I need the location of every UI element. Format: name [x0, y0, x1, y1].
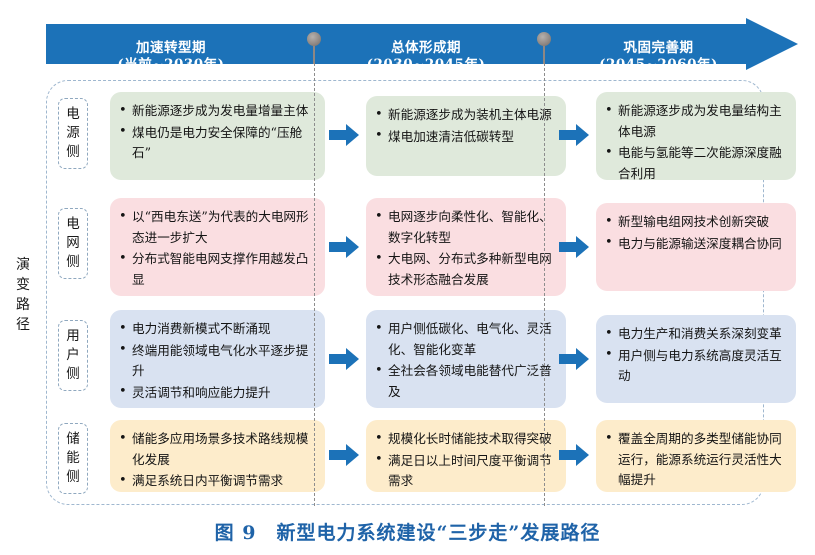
- list-item: 覆盖全周期的多类型储能协同运行，能源系统运行灵活性大幅提升: [604, 429, 786, 491]
- row-label-power-generation: 电 源 侧: [58, 98, 88, 169]
- timeline-pin-stem-1: [313, 44, 315, 64]
- row-power-generation: 电 源 侧 新能源逐步成为发电量增量主体 煤电仍是电力安全保障的“压舱石” 新能…: [46, 92, 806, 180]
- timeline-phase-0: 加速转型期 (当前~2030年): [46, 40, 296, 74]
- phase-name: 总体形成期: [311, 40, 541, 57]
- cell-grid-p2: 电网逐步向柔性化、智能化、数字化转型 大电网、分布式多种新型电网技术形态融合发展: [366, 198, 566, 296]
- phase-name: 巩固完善期: [551, 40, 766, 57]
- phase-range: (2030~2045年): [311, 57, 541, 74]
- row-label-char-2: 侧: [59, 253, 87, 272]
- cell-storage-p2: 规模化长时储能技术取得突破 满足日以上时间尺度平衡调节需求: [366, 420, 566, 492]
- cell-bullet-list: 规模化长时储能技术取得突破 满足日以上时间尺度平衡调节需求: [374, 429, 556, 492]
- list-item: 煤电仍是电力安全保障的“压舱石”: [118, 123, 315, 164]
- figure-caption: 图 9 新型电力系统建设“三步走”发展路径: [0, 518, 815, 545]
- list-item: 电能与氢能等二次能源深度融合利用: [604, 143, 786, 184]
- cell-bullet-list: 以“西电东送”为代表的大电网形态进一步扩大 分布式智能电网支撑作用越发凸显: [118, 207, 315, 290]
- row-label-char-1: 能: [59, 449, 87, 468]
- cell-grid-p3: 新型输电组网技术创新突破 电力与能源输送深度耦合协同: [596, 203, 796, 291]
- list-item: 电网逐步向柔性化、智能化、数字化转型: [374, 207, 556, 248]
- row-label-char-0: 储: [59, 430, 87, 449]
- cell-bullet-list: 覆盖全周期的多类型储能协同运行，能源系统运行灵活性大幅提升: [604, 429, 786, 491]
- list-item: 储能多应用场景多技术路线规模化发展: [118, 429, 315, 470]
- cell-bullet-list: 用户侧低碳化、电气化、灵活化、智能化变革 全社会各领域电能替代广泛普及: [374, 319, 556, 402]
- flow-arrow-user-2to3: [559, 348, 589, 370]
- flow-arrow-user-1to2: [329, 348, 359, 370]
- row-label-char-2: 侧: [59, 365, 87, 384]
- list-item: 规模化长时储能技术取得突破: [374, 429, 556, 450]
- cell-bullet-list: 电力消费新模式不断涌现 终端用能领域电气化水平逐步提升 灵活调节和响应能力提升: [118, 319, 315, 403]
- phase-name: 加速转型期: [46, 40, 296, 57]
- cell-bullet-list: 新能源逐步成为装机主体电源 煤电加速清洁低碳转型: [374, 105, 556, 147]
- row-storage: 储 能 侧 储能多应用场景多技术路线规模化发展 满足系统日内平衡调节需求 规模化…: [46, 420, 806, 498]
- list-item: 用户侧与电力系统高度灵活互动: [604, 346, 786, 387]
- row-label-char-0: 电: [59, 215, 87, 234]
- cell-bullet-list: 电网逐步向柔性化、智能化、数字化转型 大电网、分布式多种新型电网技术形态融合发展: [374, 207, 556, 290]
- flow-arrow-grid-2to3: [559, 236, 589, 258]
- row-label-storage: 储 能 侧: [58, 423, 88, 494]
- column-divider-1: [314, 58, 315, 506]
- cell-power-p2: 新能源逐步成为装机主体电源 煤电加速清洁低碳转型: [366, 96, 566, 176]
- cell-bullet-list: 新能源逐步成为发电量增量主体 煤电仍是电力安全保障的“压舱石”: [118, 101, 315, 164]
- flow-arrow-power-2to3: [559, 124, 589, 146]
- list-item: 煤电加速清洁低碳转型: [374, 127, 556, 148]
- cell-grid-p1: 以“西电东送”为代表的大电网形态进一步扩大 分布式智能电网支撑作用越发凸显: [110, 198, 325, 296]
- row-user: 用 户 侧 电力消费新模式不断涌现 终端用能领域电气化水平逐步提升 灵活调节和响…: [46, 310, 806, 408]
- list-item: 满足系统日内平衡调节需求: [118, 471, 315, 492]
- flow-arrow-grid-1to2: [329, 236, 359, 258]
- list-item: 电力生产和消费关系深刻变革: [604, 324, 786, 345]
- timeline-pin-2: [537, 32, 551, 46]
- list-item: 终端用能领域电气化水平逐步提升: [118, 341, 315, 382]
- list-item: 新能源逐步成为发电量增量主体: [118, 101, 315, 122]
- list-item: 用户侧低碳化、电气化、灵活化、智能化变革: [374, 319, 556, 360]
- figure-canvas: 加速转型期 (当前~2030年) 总体形成期 (2030~2045年) 巩固完善…: [0, 0, 815, 555]
- timeline-pin-stem-2: [543, 44, 545, 64]
- phase-range: (当前~2030年): [46, 57, 296, 74]
- row-label-grid: 电 网 侧: [58, 208, 88, 279]
- list-item: 分布式智能电网支撑作用越发凸显: [118, 249, 315, 290]
- flow-arrow-power-1to2: [329, 124, 359, 146]
- evolution-path-axis-label: 演 变 路 径: [10, 255, 36, 335]
- timeline-phase-2: 巩固完善期 (2045~2060年): [551, 40, 766, 74]
- timeline-phase-1: 总体形成期 (2030~2045年): [311, 40, 541, 74]
- row-label-char-1: 网: [59, 234, 87, 253]
- list-item: 电力与能源输送深度耦合协同: [604, 234, 786, 255]
- row-grid: 电 网 侧 以“西电东送”为代表的大电网形态进一步扩大 分布式智能电网支撑作用越…: [46, 198, 806, 296]
- cell-storage-p3: 覆盖全周期的多类型储能协同运行，能源系统运行灵活性大幅提升: [596, 420, 796, 492]
- flow-arrow-storage-1to2: [329, 444, 359, 466]
- column-divider-2: [544, 58, 545, 506]
- axis-label-char-3: 径: [10, 315, 36, 335]
- axis-label-char-2: 路: [10, 295, 36, 315]
- cell-bullet-list: 新型输电组网技术创新突破 电力与能源输送深度耦合协同: [604, 212, 786, 254]
- row-label-char-1: 户: [59, 346, 87, 365]
- axis-label-char-0: 演: [10, 255, 36, 275]
- cell-bullet-list: 新能源逐步成为发电量结构主体电源 电能与氢能等二次能源深度融合利用: [604, 101, 786, 184]
- timeline-pin-1: [307, 32, 321, 46]
- cell-storage-p1: 储能多应用场景多技术路线规模化发展 满足系统日内平衡调节需求: [110, 420, 325, 492]
- cell-user-p3: 电力生产和消费关系深刻变革 用户侧与电力系统高度灵活互动: [596, 315, 796, 403]
- flow-arrow-storage-2to3: [559, 444, 589, 466]
- row-label-char-1: 源: [59, 124, 87, 143]
- list-item: 灵活调节和响应能力提升: [118, 383, 315, 404]
- row-label-char-2: 侧: [59, 143, 87, 162]
- list-item: 以“西电东送”为代表的大电网形态进一步扩大: [118, 207, 315, 248]
- phase-range: (2045~2060年): [551, 57, 766, 74]
- list-item: 新型输电组网技术创新突破: [604, 212, 786, 233]
- row-label-char-2: 侧: [59, 468, 87, 487]
- cell-bullet-list: 电力生产和消费关系深刻变革 用户侧与电力系统高度灵活互动: [604, 324, 786, 387]
- list-item: 电力消费新模式不断涌现: [118, 319, 315, 340]
- list-item: 大电网、分布式多种新型电网技术形态融合发展: [374, 249, 556, 290]
- cell-user-p2: 用户侧低碳化、电气化、灵活化、智能化变革 全社会各领域电能替代广泛普及: [366, 310, 566, 408]
- cell-user-p1: 电力消费新模式不断涌现 终端用能领域电气化水平逐步提升 灵活调节和响应能力提升: [110, 310, 325, 408]
- cell-power-p3: 新能源逐步成为发电量结构主体电源 电能与氢能等二次能源深度融合利用: [596, 92, 796, 180]
- cell-power-p1: 新能源逐步成为发电量增量主体 煤电仍是电力安全保障的“压舱石”: [110, 92, 325, 180]
- cell-bullet-list: 储能多应用场景多技术路线规模化发展 满足系统日内平衡调节需求: [118, 429, 315, 492]
- list-item: 全社会各领域电能替代广泛普及: [374, 361, 556, 402]
- axis-label-char-1: 变: [10, 275, 36, 295]
- row-label-char-0: 用: [59, 327, 87, 346]
- timeline-arrow: 加速转型期 (当前~2030年) 总体形成期 (2030~2045年) 巩固完善…: [46, 18, 798, 70]
- list-item: 新能源逐步成为发电量结构主体电源: [604, 101, 786, 142]
- row-label-char-0: 电: [59, 105, 87, 124]
- list-item: 新能源逐步成为装机主体电源: [374, 105, 556, 126]
- list-item: 满足日以上时间尺度平衡调节需求: [374, 451, 556, 492]
- row-label-user: 用 户 侧: [58, 320, 88, 391]
